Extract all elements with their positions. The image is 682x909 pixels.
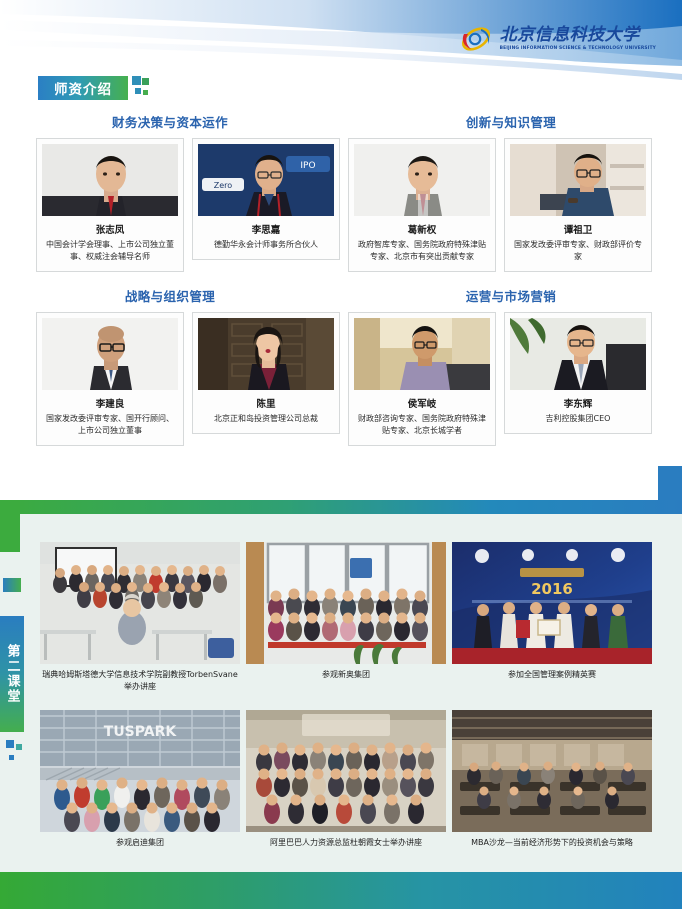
badge-decor-dots-icon [132, 76, 160, 106]
faculty-card-row-1: 张志凤 中国会计学会理事、上市公司独立董事、权威注会辅导名师 IPO Zero [0, 138, 682, 272]
group-title-innovation: 创新与知识管理 [340, 112, 682, 131]
gallery-item[interactable]: TUSPARK [40, 710, 240, 849]
faculty-card-row-2: 李建良 国家发改委评审专家、国开行顾问、上市公司独立董事 [0, 312, 682, 446]
faculty-portrait: IPO Zero [198, 144, 334, 216]
faculty-name: 葛新权 [354, 222, 490, 236]
faculty-name: 侯军岐 [354, 396, 490, 410]
logo-chinese-name: 北京信息科技大学 [500, 27, 656, 44]
faculty-bio: 中国会计学会理事、上市公司独立董事、权威注会辅导名师 [42, 239, 178, 263]
gallery-item[interactable]: 参观新奥集团 [246, 542, 446, 693]
gallery-photo [40, 542, 240, 664]
faculty-bio: 国家发改委评审专家、财政部评价专家 [510, 239, 646, 263]
faculty-bio: 国家发改委评审专家、国开行顾问、上市公司独立董事 [42, 413, 178, 437]
gallery-item[interactable]: 2016 参加全国管理案例精英赛 [452, 542, 652, 693]
faculty-name: 陈里 [198, 396, 334, 410]
faculty-card[interactable]: 陈里 北京正和岛投资管理公司总裁 [192, 312, 340, 434]
faculty-name: 张志凤 [42, 222, 178, 236]
faculty-section: 财务决策与资本运作 创新与知识管理 [0, 112, 682, 446]
gallery-row-1: 瑞典哈姆斯塔德大学信息技术学院副教授TorbenSvane举办讲座 [40, 542, 652, 693]
faculty-portrait [198, 318, 334, 390]
faculty-card[interactable]: 葛新权 政府智库专家、国务院政府特殊津贴专家、北京市有突出贡献专家 [348, 138, 496, 272]
university-logo: 北京信息科技大学 BEIJING INFORMATION SCIENCE & T… [459, 22, 656, 56]
group-title-finance: 财务决策与资本运作 [0, 112, 340, 131]
faculty-name: 李思嘉 [198, 222, 334, 236]
vtab-decor-dot-icon [16, 744, 22, 750]
vtab-decor-dot-icon [6, 740, 14, 748]
page-header: 北京信息科技大学 BEIJING INFORMATION SCIENCE & T… [0, 0, 682, 82]
divider-green-corner [0, 500, 20, 552]
vertical-section-tab: 第二课堂 [0, 616, 24, 732]
group-title-strategy: 战略与组织管理 [0, 286, 340, 305]
faculty-group-titles-row-1: 财务决策与资本运作 创新与知识管理 [0, 112, 682, 138]
gallery-photo [452, 710, 652, 832]
faculty-card[interactable]: 谭祖卫 国家发改委评审专家、财政部评价专家 [504, 138, 652, 272]
faculty-portrait [510, 144, 646, 216]
svg-text:TUSPARK: TUSPARK [104, 724, 178, 740]
page-footer-bar [0, 872, 682, 909]
gallery-photo [246, 542, 446, 664]
gallery-photo: TUSPARK [40, 710, 240, 832]
gallery-caption: 瑞典哈姆斯塔德大学信息技术学院副教授TorbenSvane举办讲座 [40, 669, 240, 693]
gallery-caption: 参观新奥集团 [246, 669, 446, 681]
gallery-item[interactable]: 阿里巴巴人力资源总监杜朝霞女士举办讲座 [246, 710, 446, 849]
vtab-decor-dot-icon [9, 755, 14, 760]
section-header-faculty: 师资介绍 [38, 76, 160, 106]
faculty-bio: 财政部咨询专家、国务院政府特殊津贴专家、北京长城学者 [354, 413, 490, 437]
faculty-card[interactable]: 张志凤 中国会计学会理事、上市公司独立董事、权威注会辅导名师 [36, 138, 184, 272]
faculty-card[interactable]: 李建良 国家发改委评审专家、国开行顾问、上市公司独立董事 [36, 312, 184, 446]
svg-text:IPO: IPO [300, 161, 315, 171]
vertical-tab-label: 第二课堂 [3, 644, 22, 704]
faculty-bio: 德勤华永会计师事务所合伙人 [198, 239, 334, 251]
faculty-name: 李建良 [42, 396, 178, 410]
gallery-caption: 参加全国管理案例精英赛 [452, 669, 652, 681]
svg-text:Zero: Zero [214, 181, 233, 190]
university-emblem-icon [459, 22, 493, 56]
gallery-row-2: TUSPARK [40, 710, 652, 849]
faculty-card[interactable]: IPO Zero 李思嘉 德勤华永会计师事务 [192, 138, 340, 260]
vtab-decor-square-icon [3, 578, 21, 592]
poster-page: 北京信息科技大学 BEIJING INFORMATION SCIENCE & T… [0, 0, 682, 909]
faculty-bio: 吉利控股集团CEO [510, 413, 646, 425]
gallery-caption: 参观启迪集团 [40, 837, 240, 849]
divider-gradient-bar [0, 500, 682, 514]
gallery-item[interactable]: 瑞典哈姆斯塔德大学信息技术学院副教授TorbenSvane举办讲座 [40, 542, 240, 693]
faculty-portrait [42, 318, 178, 390]
gallery-item[interactable]: MBA沙龙—当前经济形势下的投资机会与策略 [452, 710, 652, 849]
faculty-name: 谭祖卫 [510, 222, 646, 236]
faculty-portrait [354, 144, 490, 216]
faculty-name: 李东辉 [510, 396, 646, 410]
faculty-card[interactable]: 李东辉 吉利控股集团CEO [504, 312, 652, 434]
group-title-marketing: 运营与市场营销 [340, 286, 682, 305]
gallery-photo [246, 710, 446, 832]
faculty-portrait [354, 318, 490, 390]
faculty-bio: 政府智库专家、国务院政府特殊津贴专家、北京市有突出贡献专家 [354, 239, 490, 263]
gallery-caption: 阿里巴巴人力资源总监杜朝霞女士举办讲座 [246, 837, 446, 849]
faculty-group-titles-row-2: 战略与组织管理 运营与市场营销 [0, 286, 682, 312]
section-badge-label: 师资介绍 [38, 76, 128, 100]
faculty-portrait [42, 144, 178, 216]
gallery-caption: MBA沙龙—当前经济形势下的投资机会与策略 [452, 837, 652, 849]
faculty-bio: 北京正和岛投资管理公司总裁 [198, 413, 334, 425]
svg-text:2016: 2016 [531, 580, 573, 598]
logo-english-name: BEIJING INFORMATION SCIENCE & TECHNOLOGY… [500, 47, 656, 51]
gallery-photo: 2016 [452, 542, 652, 664]
faculty-portrait [510, 318, 646, 390]
faculty-card[interactable]: 侯军岐 财政部咨询专家、国务院政府特殊津贴专家、北京长城学者 [348, 312, 496, 446]
